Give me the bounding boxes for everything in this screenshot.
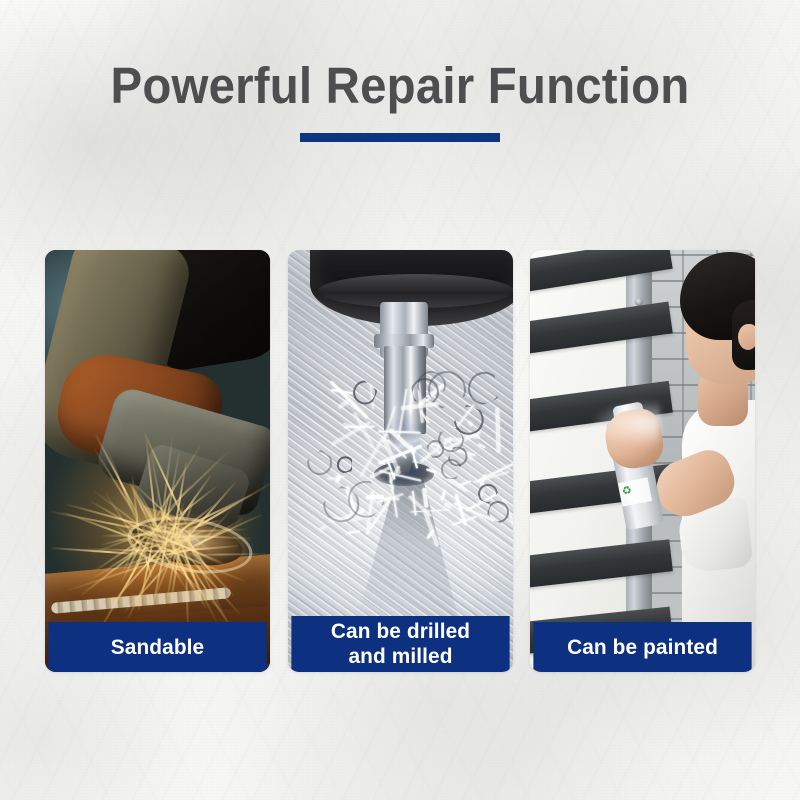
metal-chip (440, 489, 446, 500)
grinder-photo (45, 250, 270, 672)
spark-layer (45, 250, 270, 672)
feature-card-drilled-milled[interactable]: Can be drilled and milled (288, 250, 513, 672)
metal-chip (426, 468, 437, 473)
paint-mist (590, 400, 660, 448)
metal-chip (496, 407, 501, 453)
curled-swarf (306, 449, 333, 476)
card-caption-sandable: Sandable (48, 622, 266, 672)
title-underline (300, 133, 500, 142)
card-caption-painted: Can be painted (533, 622, 751, 672)
metal-chip (422, 487, 428, 507)
metal-chip (319, 526, 326, 531)
metal-chip (346, 530, 361, 534)
metal-chip (410, 509, 450, 513)
curled-swarf (334, 452, 358, 476)
metal-chip-layer (288, 250, 513, 672)
metal-chip (478, 444, 486, 449)
card-caption-drilled-milled: Can be drilled and milled (291, 616, 509, 672)
curled-swarf (463, 367, 507, 411)
recycle-icon: ♻ (621, 485, 634, 498)
metal-chip (408, 496, 432, 518)
metal-chip (384, 497, 399, 500)
metal-chip (474, 470, 510, 483)
page-title: Powerful Repair Function (28, 56, 772, 116)
header: Powerful Repair Function (0, 56, 800, 142)
feature-card-painted[interactable]: ♻ Can be painted (530, 250, 755, 672)
poster-root: Powerful Repair Function Sandable (0, 0, 800, 800)
feature-cards: Sandable Can be drilled and milled (45, 250, 755, 672)
spray-paint-photo: ♻ (530, 250, 755, 672)
feature-card-sandable[interactable]: Sandable (45, 250, 270, 672)
drill-photo (288, 250, 513, 672)
person-ear (738, 324, 755, 350)
